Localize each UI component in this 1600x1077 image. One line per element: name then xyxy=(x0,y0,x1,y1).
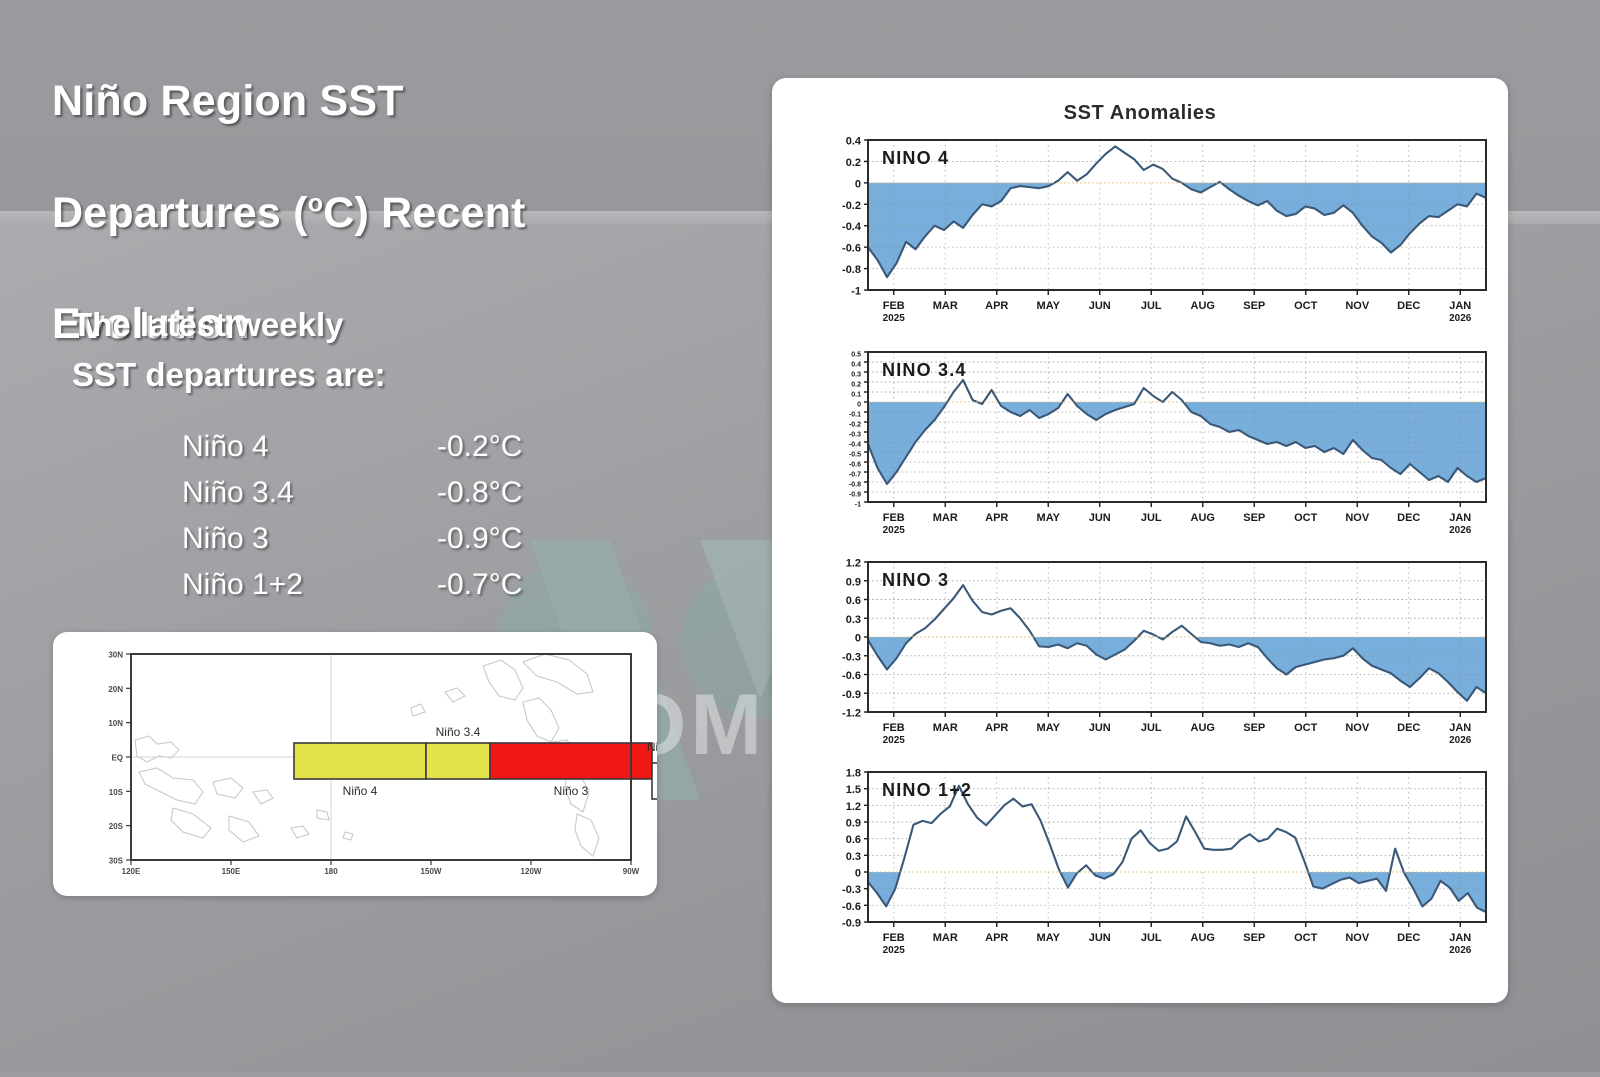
y-axis-tick-label: -0.9 xyxy=(842,689,861,701)
x-axis-tick-label: NOV xyxy=(1345,932,1370,944)
map-y-axis-label: 20S xyxy=(109,822,124,831)
x-axis-tick-label: OCT xyxy=(1294,300,1318,312)
y-axis-tick-label: -0.6 xyxy=(849,462,861,469)
y-axis-tick-label: -0.2 xyxy=(842,200,861,212)
x-axis-tick-label: MAR xyxy=(933,722,958,734)
departures-list: Niño 4 -0.2°C Niño 3.4 -0.8°C Niño 3 -0.… xyxy=(182,430,522,614)
x-axis-tick-label: SEP xyxy=(1243,722,1265,734)
nino-region-label: Niño 3.4 xyxy=(436,725,481,739)
y-axis-tick-label: 1.5 xyxy=(846,784,861,796)
map-y-axis-label: 10S xyxy=(109,788,124,797)
nino-region-box xyxy=(426,743,490,779)
list-item: Niño 3 -0.9°C xyxy=(182,522,522,568)
x-axis-tick-label: NOV xyxy=(1345,512,1370,524)
x-axis-tick-label: SEP xyxy=(1243,512,1265,524)
x-axis-tick-label: DEC xyxy=(1397,722,1420,734)
y-axis-tick-label: -0.6 xyxy=(842,670,861,682)
y-axis-tick-label: 0.3 xyxy=(851,372,861,379)
x-axis-tick-label: AUG xyxy=(1191,512,1215,524)
x-axis-tick-label: MAY xyxy=(1037,932,1061,944)
y-axis-tick-label: 0.5 xyxy=(851,352,861,359)
x-axis-tick-label: JUL xyxy=(1141,722,1162,734)
x-axis-tick-label: JUL xyxy=(1141,932,1162,944)
y-axis-tick-label: -0.3 xyxy=(842,884,861,896)
chart-title: SST Anomalies xyxy=(772,102,1508,125)
x-axis-tick-label: AUG xyxy=(1191,932,1215,944)
x-axis-year-label: 2026 xyxy=(1449,525,1472,536)
map-x-axis-label: 120E xyxy=(122,867,141,876)
page-title-line1: Niño Region SST xyxy=(52,77,404,125)
nino-region-box xyxy=(490,743,652,779)
x-axis-tick-label: JUN xyxy=(1089,932,1111,944)
map-x-axis-label: 90W xyxy=(623,867,640,876)
x-axis-tick-label: DEC xyxy=(1397,932,1420,944)
x-axis-tick-label: APR xyxy=(985,932,1008,944)
sst-anomalies-chart-card: SST Anomalies 0.40.20-0.2-0.4-0.6-0.8-1N… xyxy=(772,78,1508,1003)
x-axis-tick-label: APR xyxy=(985,300,1008,312)
region-value: -0.8°C xyxy=(437,476,522,510)
panel-label: NINO 1+2 xyxy=(882,780,972,800)
x-axis-tick-label: NOV xyxy=(1345,300,1370,312)
y-axis-tick-label: -0.8 xyxy=(849,482,861,489)
x-axis-tick-label: APR xyxy=(985,722,1008,734)
x-axis-year-label: 2026 xyxy=(1449,313,1472,324)
y-axis-tick-label: -0.6 xyxy=(842,901,861,913)
list-item: Niño 4 -0.2°C xyxy=(182,430,522,476)
y-axis-tick-label: 0.9 xyxy=(846,576,861,588)
nino-region-box xyxy=(652,763,657,799)
y-axis-tick-label: -0.5 xyxy=(849,452,861,459)
y-axis-tick-label: -1.2 xyxy=(842,708,861,720)
nino-region-label: Niño 4 xyxy=(343,784,378,798)
x-axis-tick-label: DEC xyxy=(1397,512,1420,524)
y-axis-tick-label: -0.8 xyxy=(842,264,861,276)
x-axis-tick-label: JAN xyxy=(1449,722,1471,734)
x-axis-tick-label: DEC xyxy=(1397,300,1420,312)
list-item: Niño 1+2 -0.7°C xyxy=(182,568,522,614)
map-y-axis-label: EQ xyxy=(111,754,123,763)
x-axis-tick-label: JUL xyxy=(1141,300,1162,312)
map-x-axis-label: 150E xyxy=(222,867,241,876)
x-axis-tick-label: AUG xyxy=(1191,722,1215,734)
page-title-line2-post: C) Recent xyxy=(323,189,526,237)
x-axis-tick-label: FEB xyxy=(883,300,905,312)
chart-panel-nino-1-2: 1.81.51.20.90.60.30-0.3-0.6-0.9NINO 1+2F… xyxy=(842,768,1486,957)
list-item: Niño 3.4 -0.8°C xyxy=(182,476,522,522)
y-axis-tick-label: 0.2 xyxy=(851,382,861,389)
x-axis-year-label: 2025 xyxy=(883,945,906,956)
lead-text: The latest weekly SST departures are: xyxy=(72,300,386,400)
page-title-line2-pre: Departures ( xyxy=(52,189,308,237)
region-value: -0.7°C xyxy=(437,568,522,602)
x-axis-year-label: 2025 xyxy=(883,313,906,324)
x-axis-tick-label: FEB xyxy=(883,932,905,944)
map-y-axis-label: 30N xyxy=(108,651,123,660)
region-label: Niño 3 xyxy=(182,522,437,556)
map-x-axis-label: 120W xyxy=(521,867,542,876)
degree-symbol: o xyxy=(308,189,323,217)
x-axis-tick-label: FEB xyxy=(883,512,905,524)
x-axis-tick-label: JUL xyxy=(1141,512,1162,524)
x-axis-tick-label: MAR xyxy=(933,932,958,944)
x-axis-tick-label: APR xyxy=(985,512,1008,524)
x-axis-tick-label: OCT xyxy=(1294,512,1318,524)
region-label: Niño 4 xyxy=(182,430,437,464)
x-axis-year-label: 2026 xyxy=(1449,945,1472,956)
y-axis-tick-label: 0.3 xyxy=(846,851,861,863)
y-axis-tick-label: -0.1 xyxy=(849,412,861,419)
x-axis-tick-label: MAR xyxy=(933,300,958,312)
x-axis-tick-label: NOV xyxy=(1345,722,1370,734)
panel-label: NINO 4 xyxy=(882,148,949,168)
map-x-axis-label: 150W xyxy=(421,867,442,876)
x-axis-tick-label: SEP xyxy=(1243,932,1265,944)
y-axis-tick-label: 0.4 xyxy=(851,362,861,369)
x-axis-tick-label: MAY xyxy=(1037,722,1061,734)
x-axis-tick-label: JUN xyxy=(1089,300,1111,312)
x-axis-tick-label: MAY xyxy=(1037,300,1061,312)
sst-anomalies-panels: 0.40.20-0.2-0.4-0.6-0.8-1NINO 4FEB2025MA… xyxy=(772,124,1508,990)
nino-region-box xyxy=(294,743,426,779)
map-x-axis-label: 180 xyxy=(324,867,338,876)
nino-region-label: Niño 3 xyxy=(554,784,589,798)
x-axis-year-label: 2025 xyxy=(883,735,906,746)
y-axis-tick-label: 0.6 xyxy=(846,595,861,607)
x-axis-tick-label: FEB xyxy=(883,722,905,734)
y-axis-tick-label: 0.4 xyxy=(846,136,862,148)
x-axis-tick-label: AUG xyxy=(1191,300,1215,312)
y-axis-tick-label: 0.6 xyxy=(846,834,861,846)
x-axis-tick-label: MAR xyxy=(933,512,958,524)
y-axis-tick-label: -0.4 xyxy=(849,442,861,449)
y-axis-tick-label: -0.9 xyxy=(842,918,861,930)
panel-label: NINO 3.4 xyxy=(882,360,967,380)
region-value: -0.2°C xyxy=(437,430,522,464)
y-axis-tick-label: 0.9 xyxy=(846,818,861,830)
x-axis-tick-label: MAY xyxy=(1037,512,1061,524)
y-axis-tick-label: 0 xyxy=(855,633,861,645)
x-axis-tick-label: OCT xyxy=(1294,932,1318,944)
y-axis-tick-label: 0.1 xyxy=(851,392,861,399)
nino-regions-map-card: Niño 4Niño 3.4Niño 3Niño 1+230N20N10NEQ1… xyxy=(53,632,657,896)
x-axis-tick-label: SEP xyxy=(1243,300,1265,312)
y-axis-tick-label: -1 xyxy=(855,502,861,509)
region-value: -0.9°C xyxy=(437,522,522,556)
chart-panel-nino-3: 1.20.90.60.30-0.3-0.6-0.9-1.2NINO 3FEB20… xyxy=(842,558,1486,747)
y-axis-tick-label: -0.4 xyxy=(842,221,862,233)
map-y-axis-label: 30S xyxy=(109,857,124,866)
nino-region-label: Niño 1+2 xyxy=(647,740,657,754)
y-axis-tick-label: 0.3 xyxy=(846,614,861,626)
y-axis-tick-label: -0.2 xyxy=(849,422,861,429)
x-axis-tick-label: JUN xyxy=(1089,722,1111,734)
y-axis-tick-label: -0.3 xyxy=(842,651,861,663)
map-y-axis-label: 10N xyxy=(108,719,123,728)
region-label: Niño 3.4 xyxy=(182,476,437,510)
x-axis-tick-label: JAN xyxy=(1449,300,1471,312)
y-axis-tick-label: -0.3 xyxy=(849,432,861,439)
chart-panel-nino-4: 0.40.20-0.2-0.4-0.6-0.8-1NINO 4FEB2025MA… xyxy=(842,136,1486,325)
map-y-axis-label: 20N xyxy=(108,685,123,694)
chart-panel-nino-3-4: 0.50.40.30.20.10-0.1-0.2-0.3-0.4-0.5-0.6… xyxy=(849,352,1486,537)
x-axis-tick-label: JUN xyxy=(1089,512,1111,524)
y-axis-tick-label: 0 xyxy=(855,178,861,190)
x-axis-tick-label: OCT xyxy=(1294,722,1318,734)
x-axis-tick-label: JAN xyxy=(1449,512,1471,524)
x-axis-year-label: 2025 xyxy=(883,525,906,536)
y-axis-tick-label: 1.2 xyxy=(846,558,861,570)
region-label: Niño 1+2 xyxy=(182,568,437,602)
y-axis-tick-label: 0 xyxy=(855,868,861,880)
y-axis-tick-label: 1.8 xyxy=(846,768,861,780)
y-axis-tick-label: 1.2 xyxy=(846,801,861,813)
panel-label: NINO 3 xyxy=(882,570,949,590)
y-axis-tick-label: -0.9 xyxy=(849,492,861,499)
nino-regions-map: Niño 4Niño 3.4Niño 3Niño 1+230N20N10NEQ1… xyxy=(53,632,657,896)
y-axis-tick-label: 0.2 xyxy=(846,157,861,169)
y-axis-tick-label: -0.7 xyxy=(849,472,861,479)
x-axis-year-label: 2026 xyxy=(1449,735,1472,746)
x-axis-tick-label: JAN xyxy=(1449,932,1471,944)
y-axis-tick-label: -0.6 xyxy=(842,243,861,255)
y-axis-tick-label: -1 xyxy=(851,286,861,298)
y-axis-tick-label: 0 xyxy=(857,402,861,409)
